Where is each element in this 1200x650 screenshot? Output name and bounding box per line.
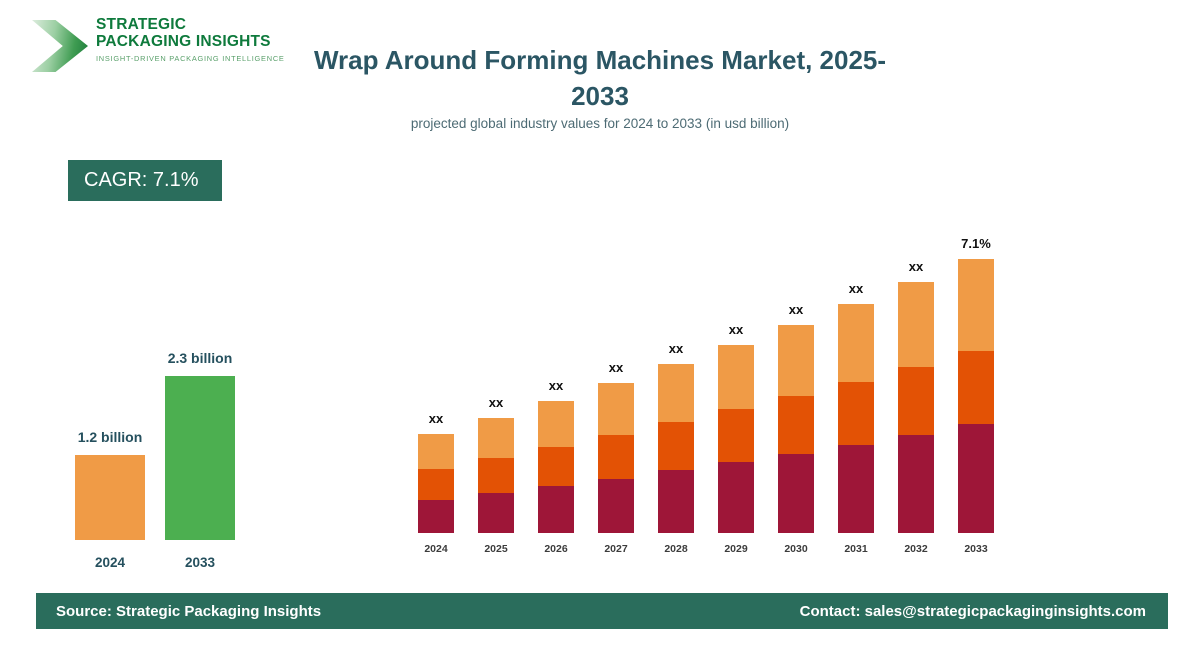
stacked-bar-segment-segment-middle — [598, 435, 634, 479]
stacked-bar-segment-segment-bottom — [418, 500, 454, 533]
stacked-bar-value-label: xx — [466, 395, 526, 410]
stacked-bar-segment-segment-top — [598, 383, 634, 435]
mini-bar — [75, 455, 145, 540]
stacked-bar-segment-segment-top — [418, 434, 454, 469]
stacked-bar — [838, 304, 874, 533]
mini-bar-year-label: 2033 — [165, 555, 235, 570]
stacked-bar-segment-segment-middle — [778, 396, 814, 454]
stacked-bar-value-label: xx — [526, 378, 586, 393]
stacked-bar-segment-segment-middle — [838, 382, 874, 445]
logo-wordmark: STRATEGIC PACKAGING INSIGHTS INSIGHT-DRI… — [96, 16, 285, 63]
stacked-bar-segment-segment-bottom — [658, 470, 694, 533]
page-title: Wrap Around Forming Machines Market, 202… — [300, 42, 900, 114]
stacked-bar-segment-segment-top — [958, 259, 994, 351]
stacked-bar — [538, 401, 574, 533]
stacked-bar — [418, 434, 454, 533]
stacked-bar-segment-segment-bottom — [958, 424, 994, 533]
stacked-bar-year-label: 2032 — [886, 543, 946, 555]
stacked-bar-segment-segment-middle — [898, 367, 934, 435]
stacked-bar — [598, 383, 634, 533]
stacked-bar — [718, 345, 754, 533]
page-subtitle: projected global industry values for 202… — [290, 116, 910, 131]
stacked-bar-value-label: xx — [706, 322, 766, 337]
logo-tagline: INSIGHT-DRIVEN PACKAGING INTELLIGENCE — [96, 54, 285, 63]
stacked-bar — [478, 418, 514, 533]
mini-bar-column — [75, 455, 145, 540]
stacked-bar-segment-segment-bottom — [598, 479, 634, 533]
mini-bar-year-label: 2024 — [75, 555, 145, 570]
stacked-bar-segment-segment-bottom — [778, 454, 814, 533]
stacked-bar-segment-segment-middle — [658, 422, 694, 471]
mini-bar — [165, 376, 235, 540]
stacked-bar-segment-segment-top — [718, 345, 754, 409]
stacked-bar-value-label: xx — [586, 360, 646, 375]
footer-bar: Source: Strategic Packaging Insights Con… — [36, 593, 1168, 629]
stacked-bar-segment-segment-middle — [538, 447, 574, 486]
footer-source-text: Source: Strategic Packaging Insights — [56, 603, 321, 620]
stacked-bar-segment-segment-top — [898, 282, 934, 367]
stacked-bar — [658, 364, 694, 533]
logo-line-2: PACKAGING INSIGHTS — [96, 33, 285, 50]
stacked-bar-segment-segment-bottom — [538, 486, 574, 533]
mini-bar-value-label: 2.3 billion — [110, 350, 290, 366]
stacked-bar — [898, 282, 934, 533]
stacked-bar-segment-segment-middle — [418, 469, 454, 500]
footer-contact-text: Contact: sales@strategicpackaginginsight… — [800, 603, 1146, 620]
logo-line-1: STRATEGIC — [96, 16, 285, 33]
stacked-bar-value-label: xx — [766, 302, 826, 317]
stacked-bar-year-label: 2031 — [826, 543, 886, 555]
stacked-bar-year-label: 2027 — [586, 543, 646, 555]
stacked-bar-segment-segment-middle — [958, 351, 994, 424]
stacked-bar-segment-segment-top — [778, 325, 814, 396]
stacked-bar-segment-segment-middle — [478, 458, 514, 493]
stacked-bar-value-label: xx — [646, 341, 706, 356]
stacked-bar — [958, 259, 994, 533]
stacked-bar-segment-segment-bottom — [898, 435, 934, 533]
stacked-bar-chart: xx2024xx2025xx2026xx2027xx2028xx2029xx20… — [400, 195, 1020, 555]
stacked-bar-year-label: 2033 — [946, 543, 1006, 555]
stacked-bar-value-label: xx — [826, 281, 886, 296]
stacked-bar-year-label: 2025 — [466, 543, 526, 555]
stacked-bar-segment-segment-top — [478, 418, 514, 458]
cagr-badge: CAGR: 7.1% — [68, 160, 222, 201]
stacked-bar-value-label: xx — [406, 411, 466, 426]
stacked-bar-segment-segment-top — [538, 401, 574, 447]
chevron-right-icon — [32, 20, 88, 72]
stacked-bar-segment-segment-bottom — [838, 445, 874, 533]
stacked-bar-year-label: 2024 — [406, 543, 466, 555]
stacked-bar-year-label: 2029 — [706, 543, 766, 555]
stacked-bar-year-label: 2026 — [526, 543, 586, 555]
stacked-bar-value-label: 7.1% — [946, 236, 1006, 251]
cagr-badge-label: CAGR: 7.1% — [84, 169, 198, 192]
stacked-bar-year-label: 2028 — [646, 543, 706, 555]
mini-bar-column — [165, 376, 235, 540]
brand-logo: STRATEGIC PACKAGING INSIGHTS INSIGHT-DRI… — [32, 16, 262, 78]
stacked-bar-value-label: xx — [886, 259, 946, 274]
stacked-bar-segment-segment-top — [658, 364, 694, 422]
stacked-bar-segment-segment-middle — [718, 409, 754, 462]
stacked-bar-segment-segment-bottom — [478, 493, 514, 533]
endpoint-bar-chart: 1.2 billion20242.3 billion2033 — [60, 300, 310, 570]
stacked-bar-year-label: 2030 — [766, 543, 826, 555]
stacked-bar-segment-segment-bottom — [718, 462, 754, 533]
stacked-bar — [778, 325, 814, 533]
stacked-bar-segment-segment-top — [838, 304, 874, 382]
